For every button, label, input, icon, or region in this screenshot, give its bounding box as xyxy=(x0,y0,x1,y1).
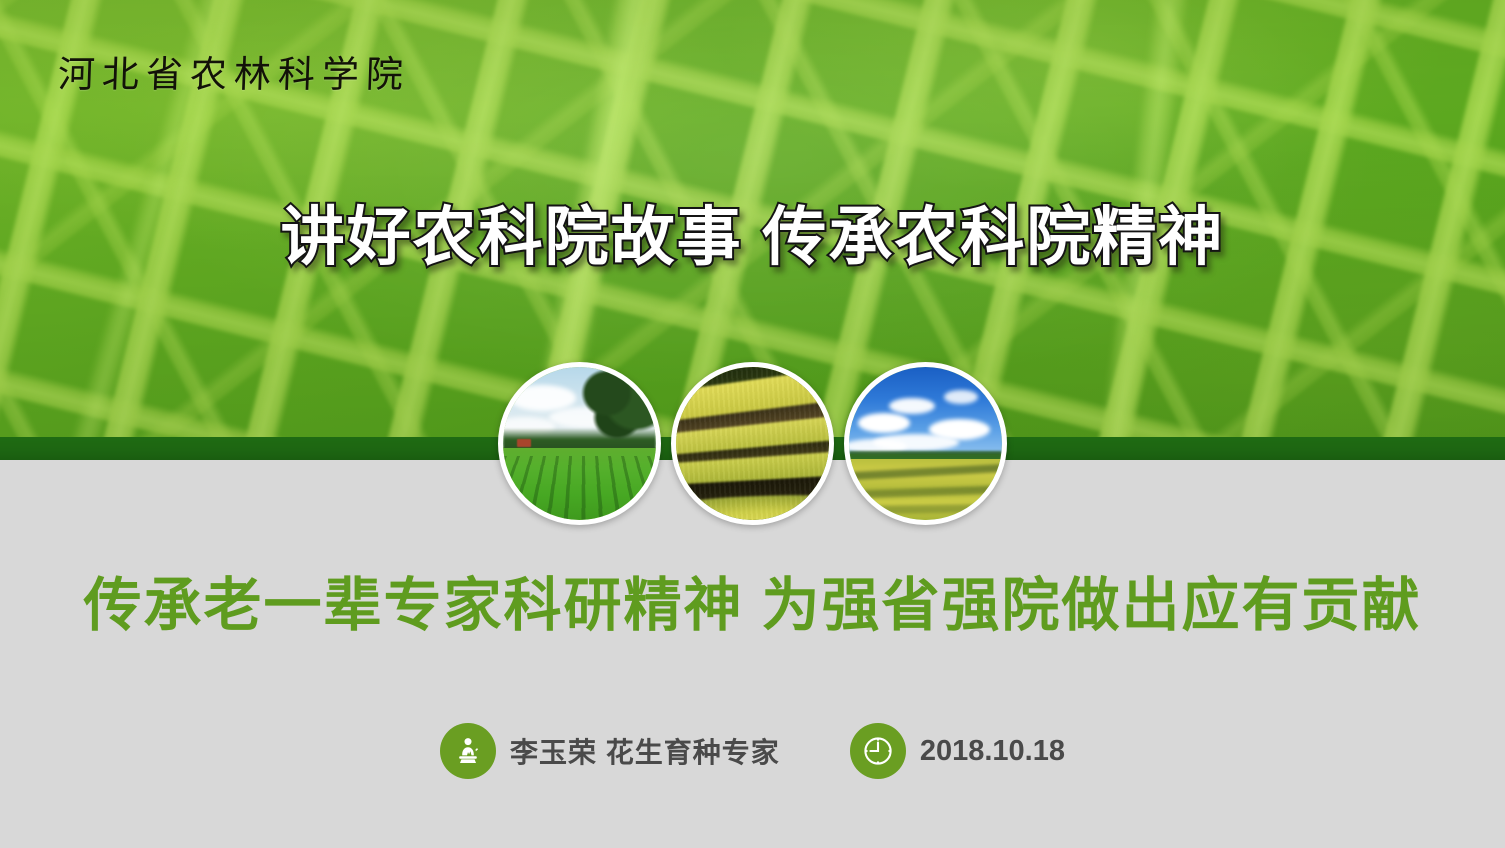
speaker-meta-item: 李玉荣 花生育种专家 xyxy=(440,723,780,779)
photo-circle-group xyxy=(0,362,1505,525)
canola-field-sky-photo xyxy=(849,367,1002,520)
cloud-shape xyxy=(889,398,935,415)
clock-icon xyxy=(850,723,906,779)
red-building-shape xyxy=(517,439,531,447)
subtitle: 传承老一辈专家科研精神 为强省强院做出应有贡献 xyxy=(0,558,1505,642)
footer-meta-row: 李玉荣 花生育种专家 2018.10.18 xyxy=(0,723,1505,779)
cloud-shape xyxy=(858,413,910,433)
date-meta-item: 2018.10.18 xyxy=(850,723,1065,779)
flower-speckle-texture xyxy=(676,367,829,520)
field-with-trees-photo xyxy=(503,367,656,520)
presentation-slide: 河北省农林科学院 讲好农科院故事 传承农科院精神 xyxy=(0,0,1505,848)
circle-photo-rapeseed-closeup xyxy=(671,362,834,525)
circle-photo-canola-field-sky xyxy=(844,362,1007,525)
institution-name: 河北省农林科学院 xyxy=(57,44,411,98)
speaker-label: 李玉荣 花生育种专家 xyxy=(510,731,780,771)
large-tree-shape xyxy=(576,370,656,447)
presenter-podium-icon xyxy=(440,723,496,779)
date-label: 2018.10.18 xyxy=(920,735,1065,768)
cloud-shape xyxy=(944,390,978,404)
page-title: 讲好农科院故事 传承农科院精神 xyxy=(0,186,1505,278)
rapeseed-closeup-photo xyxy=(676,367,829,520)
crop-row-texture xyxy=(503,456,656,520)
circle-photo-field-with-trees xyxy=(498,362,661,525)
